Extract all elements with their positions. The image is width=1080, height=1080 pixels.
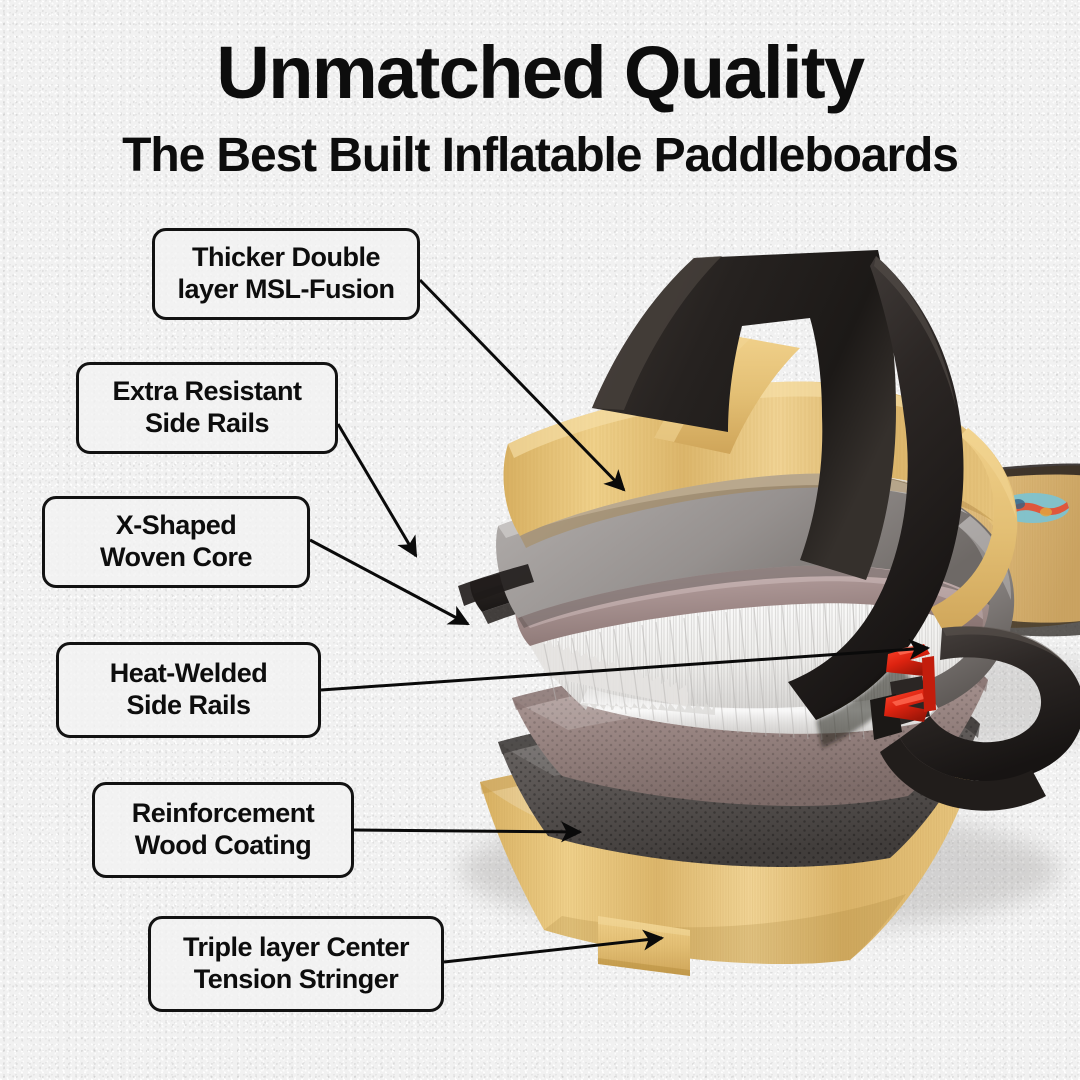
- paddleboard-layer-cutaway-illustration: [330, 230, 1080, 990]
- callout-triple-layer-center-tension-stringer[interactable]: Triple layer Center Tension Stringer: [148, 916, 444, 1012]
- callout-label: X-Shaped Woven Core: [100, 510, 252, 573]
- callout-thicker-double-layer-msl-fusion[interactable]: Thicker Double layer MSL-Fusion: [152, 228, 420, 320]
- callout-x-shaped-woven-core[interactable]: X-Shaped Woven Core: [42, 496, 310, 588]
- callout-label: Heat-Welded Side Rails: [110, 658, 268, 721]
- page-title: Unmatched Quality: [0, 0, 1080, 110]
- header: Unmatched Quality The Best Built Inflata…: [0, 0, 1080, 180]
- callout-label: Extra Resistant Side Rails: [112, 376, 301, 439]
- page-subtitle: The Best Built Inflatable Paddleboards: [0, 110, 1080, 180]
- callout-reinforcement-wood-coating[interactable]: Reinforcement Wood Coating: [92, 782, 354, 878]
- callout-extra-resistant-side-rails[interactable]: Extra Resistant Side Rails: [76, 362, 338, 454]
- callout-label: Triple layer Center Tension Stringer: [183, 932, 409, 995]
- callout-label: Reinforcement Wood Coating: [132, 798, 315, 861]
- callout-label: Thicker Double layer MSL-Fusion: [177, 242, 394, 305]
- callout-heat-welded-side-rails[interactable]: Heat-Welded Side Rails: [56, 642, 321, 738]
